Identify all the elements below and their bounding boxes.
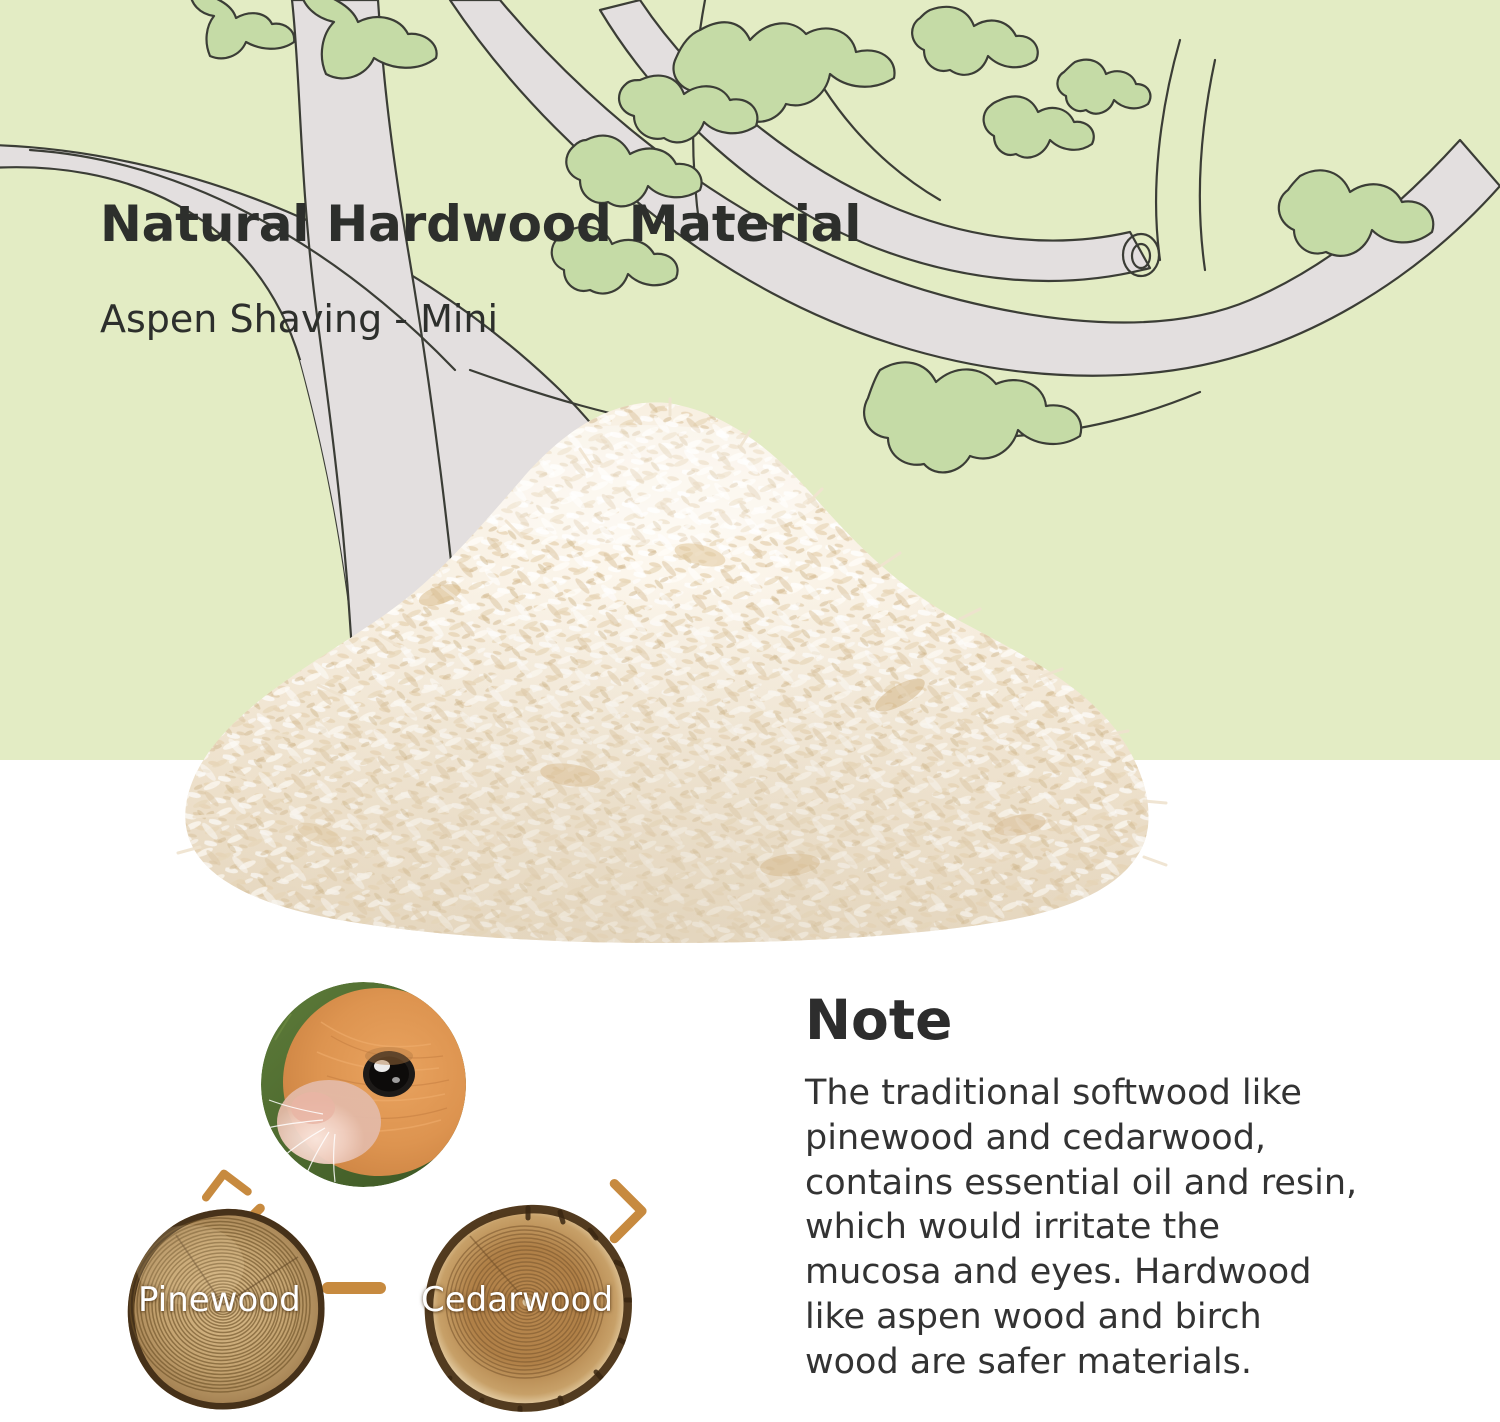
hero-text-block: Natural Hardwood Material Aspen Shaving … [100, 198, 1000, 339]
hamster-image [261, 982, 466, 1187]
infographic-canvas: .tg{fill:#e3dfdf;stroke:#3b3d36;stroke-w… [0, 0, 1500, 1422]
hamster-photo [261, 982, 466, 1187]
arrow-left-icon [203, 1171, 248, 1198]
page-title: Natural Hardwood Material [100, 198, 1000, 251]
note-body: The traditional softwood like pinewood a… [805, 1048, 1365, 1385]
page-subtitle: Aspen Shaving - Mini [100, 251, 1000, 339]
cedarwood-slice [420, 1202, 635, 1417]
pinewood-slice [120, 1205, 330, 1415]
note-block: Note The traditional softwood like pinew… [805, 993, 1365, 1385]
aspen-shaving-pile-image [140, 395, 1200, 955]
pinewood-slice-image [120, 1205, 330, 1415]
shaving-pile-graphic [140, 395, 1200, 955]
cedarwood-slice-image [420, 1202, 635, 1417]
note-title: Note [805, 993, 1365, 1048]
connector-bar [322, 1282, 386, 1294]
